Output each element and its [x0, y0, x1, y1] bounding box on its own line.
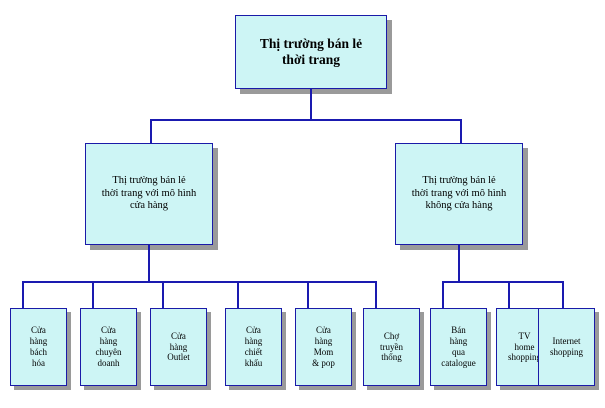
connector-leaf-drop-9: [562, 281, 564, 308]
connector-level2-bar: [150, 119, 462, 121]
level2-box-nonstore-model: Thị trường bán lẻ thời trang với mô hình…: [395, 143, 523, 245]
level2-left-label: Thị trường bán lẻ thời trang với mô hình…: [86, 175, 212, 213]
connector-root-stem: [310, 89, 312, 120]
connector-leaf-drop-7: [442, 281, 444, 308]
root-box-label: Thị trường bán lẻ thời trang: [236, 36, 386, 69]
connector-leaf-drop-8: [508, 281, 510, 308]
leaf-label-7: Bán hàng qua catalogue: [431, 325, 486, 369]
connector-level2-drop-right: [460, 119, 462, 144]
connector-leaf-drop-5: [307, 281, 309, 308]
root-box: Thị trường bán lẻ thời trang: [235, 15, 387, 89]
leaf-label-5: Cửa hàng Mom & pop: [296, 325, 351, 369]
connector-leaf-drop-2: [92, 281, 94, 308]
connector-level3-left-bar: [22, 281, 377, 283]
leaf-label-3: Cửa hàng Outlet: [151, 331, 206, 364]
connector-level2-drop-left: [150, 119, 152, 144]
leaf-box-department-store: Cửa hàng bách hóa: [10, 308, 67, 386]
leaf-box-internet-shopping: Internet shopping: [538, 308, 595, 386]
leaf-box-traditional-market: Chợ truyền thống: [363, 308, 420, 386]
leaf-label-6: Chợ truyền thống: [364, 331, 419, 364]
leaf-box-specialty-store: Cửa hàng chuyên doanh: [80, 308, 137, 386]
leaf-box-discount-store: Cửa hàng chiết khấu: [225, 308, 282, 386]
leaf-label-1: Cửa hàng bách hóa: [11, 325, 66, 369]
connector-level3-right-bar: [442, 281, 564, 283]
connector-right-stem: [458, 245, 460, 282]
connector-left-stem: [148, 245, 150, 282]
leaf-label-4: Cửa hàng chiết khấu: [226, 325, 281, 369]
connector-leaf-drop-3: [162, 281, 164, 308]
leaf-box-catalogue-selling: Bán hàng qua catalogue: [430, 308, 487, 386]
leaf-box-mom-and-pop-store: Cửa hàng Mom & pop: [295, 308, 352, 386]
connector-leaf-drop-6: [375, 281, 377, 308]
leaf-label-9: Internet shopping: [539, 336, 594, 358]
diagram-canvas: Thị trường bán lẻ thời trang Thị trường …: [0, 0, 605, 408]
leaf-box-outlet-store: Cửa hàng Outlet: [150, 308, 207, 386]
connector-leaf-drop-1: [22, 281, 24, 308]
connector-leaf-drop-4: [237, 281, 239, 308]
level2-right-label: Thị trường bán lẻ thời trang với mô hình…: [396, 175, 522, 213]
level2-box-store-model: Thị trường bán lẻ thời trang với mô hình…: [85, 143, 213, 245]
leaf-label-2: Cửa hàng chuyên doanh: [81, 325, 136, 369]
